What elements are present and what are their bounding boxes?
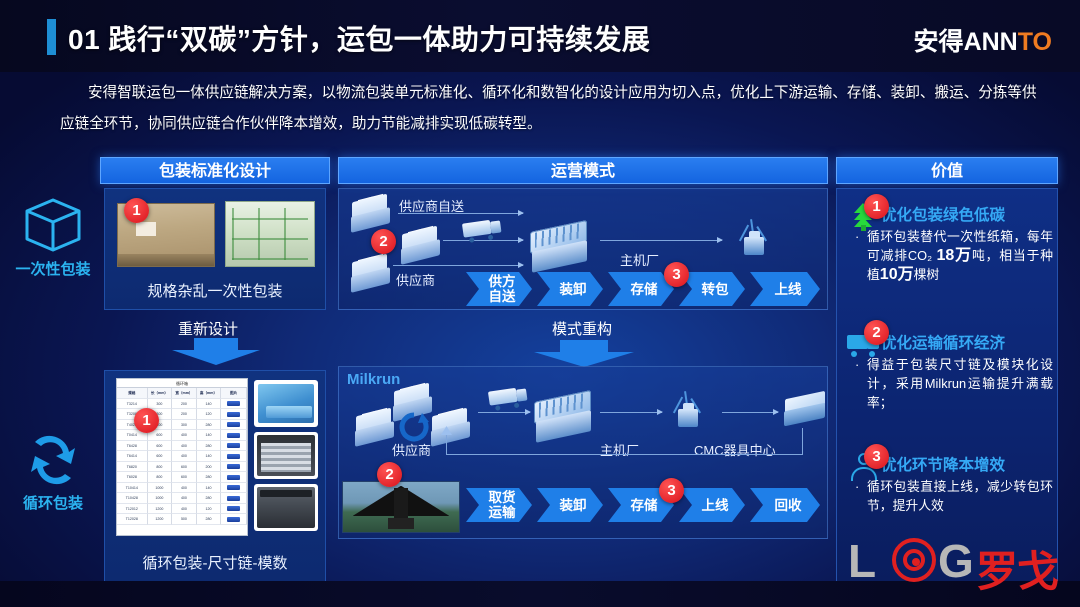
spec-table-cell: 120 — [197, 504, 222, 515]
spec-table-cell: T6428 — [117, 441, 148, 452]
value-title-1: 优化包装绿色低碳 — [881, 203, 1005, 225]
spec-table-box-thumb-icon — [221, 504, 247, 515]
value-title-3: 优化环节降本增效 — [881, 453, 1005, 475]
value-body-1-big1: 18万 — [937, 247, 973, 264]
flow-step-5[interactable]: 回收 — [750, 488, 820, 522]
watermark-logo: L G 罗戈网 — [848, 530, 1078, 592]
left-icon-label-reusable: 循环包装 — [6, 492, 100, 513]
value-body-3: ·循环包装直接上线，减少转包环节，提升人效 — [867, 477, 1053, 515]
spec-table-box-thumb-icon — [221, 483, 247, 494]
spec-table-box-thumb-icon — [221, 441, 247, 452]
factory-icon-bottom — [532, 392, 594, 440]
arrow-factory-to-robot-bottom — [600, 412, 662, 413]
flow-step-5[interactable]: 上线 — [750, 272, 820, 306]
spec-table-cell: 600 — [148, 451, 173, 462]
spec-table-box-thumb-icon — [221, 462, 247, 473]
spec-table-box-thumb-icon — [221, 399, 247, 410]
value-body-3-pre: 循环包装直接上线，减少转包环节，提升人效 — [867, 479, 1053, 513]
badge-left-top-1: 1 — [124, 198, 149, 223]
watermark-l: L — [848, 534, 875, 588]
spec-table-cell: 140 — [197, 451, 222, 462]
column-header-operating-model: 运营模式 — [338, 157, 828, 184]
spec-table-cell: 500 — [172, 514, 197, 525]
return-loop-horizontal — [446, 454, 803, 455]
photo-port-crane — [342, 481, 460, 533]
spec-table-cell: 400 — [172, 430, 197, 441]
left-icon-disposable-packaging: 一次性包装 — [6, 196, 100, 279]
spec-table-cell: 400 — [172, 493, 197, 504]
slide-canvas: 01 践行“双碳”方针，运包一体助力可持续发展 安得ANNTO 安得智联运包一体… — [0, 0, 1080, 607]
spec-table-cell: 280 — [197, 441, 222, 452]
badge-right-3: 3 — [864, 444, 889, 469]
photo-wrapped-pallet — [225, 201, 315, 267]
page-title: 01 践行“双碳”方针，运包一体助力可持续发展 — [68, 18, 650, 58]
pallet-stack-icon-3 — [348, 256, 392, 290]
badge-mid-top-3: 3 — [664, 262, 689, 287]
milkrun-loop-icon — [398, 412, 430, 442]
spec-table-cell: 1200 — [148, 514, 173, 525]
panel-caption-reusable: 循环包装-尺寸链-模数 — [105, 552, 325, 573]
watermark-rings-icon — [892, 538, 936, 582]
slide-header: 01 践行“双碳”方针，运包一体助力可持续发展 安得ANNTO — [0, 0, 1080, 72]
spec-table-header-cell: 宽（mm） — [172, 388, 197, 399]
value-body-2-pre: 得益于包装尺寸链及模块化设计，采用Milkrun运输提升满载率； — [867, 357, 1053, 410]
spec-table-cell: 1000 — [148, 493, 173, 504]
spec-table-box-thumb-icon — [221, 451, 247, 462]
brand-cn: 安得 — [914, 28, 964, 56]
spec-table-header-cell: 高（mm） — [197, 388, 222, 399]
spec-table-header-cell: 规格 — [117, 388, 148, 399]
arrow-supplier-self — [398, 213, 523, 214]
column-header-packaging-design: 包装标准化设计 — [100, 157, 330, 184]
return-loop-vertical-right — [802, 428, 803, 454]
label-supplier-bottom: 供应商 — [392, 440, 431, 459]
flow-step-2[interactable]: 装卸 — [537, 488, 603, 522]
truck-icon-bottom — [488, 386, 528, 410]
spec-table-cell: 400 — [172, 483, 197, 494]
flow-step-2[interactable]: 装卸 — [537, 272, 603, 306]
left-icon-label-disposable: 一次性包装 — [6, 258, 100, 279]
return-loop-arrowhead-icon — [441, 426, 453, 436]
spec-table-cell: 800 — [148, 462, 173, 473]
flow-step-4[interactable]: 上线 — [679, 488, 745, 522]
spec-table-header-cell: 图片 — [221, 388, 247, 399]
spec-table-box-thumb-icon — [221, 472, 247, 483]
badge-mid-bot-2: 2 — [377, 462, 402, 487]
intro-paragraph: 安得智联运包一体供应链解决方案，以物流包装单元标准化、循环化和数智化的设计应用为… — [60, 78, 1040, 140]
panel-caption-disposable: 规格杂乱一次性包装 — [105, 280, 325, 301]
product-thumb-folding-crate — [254, 380, 318, 427]
arrow-factory-to-robot — [600, 240, 722, 241]
label-oem-top: 主机厂 — [620, 250, 659, 269]
spec-table-cell: 280 — [197, 493, 222, 504]
spec-table-cell: 280 — [197, 472, 222, 483]
spec-table-cell: T12028 — [117, 514, 148, 525]
spec-table-cell: 400 — [172, 441, 197, 452]
spec-table-cell: 140 — [197, 430, 222, 441]
watermark-cn: 罗戈网 — [976, 538, 1078, 607]
value-title-2: 优化运输循环经济 — [881, 331, 1005, 353]
spec-table-cell: 280 — [197, 514, 222, 525]
value-body-1-big2: 10万 — [880, 266, 914, 283]
spec-table-cell: 600 — [148, 441, 173, 452]
spec-table-title: 循环箱 — [117, 379, 247, 388]
spec-table-grid: 规格长（mm）宽（mm）高（mm）图片T3214300200140T320830… — [117, 388, 247, 525]
brand-ann: ANN — [964, 28, 1018, 56]
factory-icon-top — [528, 222, 590, 270]
spec-table-cell: T10428 — [117, 493, 148, 504]
brand-logo: 安得ANNTO — [914, 22, 1052, 58]
arrow-milkrun-to-truck — [478, 412, 530, 413]
spec-table-cell: 120 — [197, 409, 222, 420]
badge-right-1: 1 — [864, 194, 889, 219]
spec-table-cell: 300 — [172, 420, 197, 431]
recycle-arrows-icon — [21, 432, 85, 488]
flow-step-4[interactable]: 转包 — [679, 272, 745, 306]
badge-right-2: 2 — [864, 320, 889, 345]
spec-table-header-cell: 长（mm） — [148, 388, 173, 399]
brand-to: TO — [1018, 28, 1052, 56]
spec-table-box-thumb-icon — [221, 514, 247, 525]
spec-table-cell: 1200 — [148, 504, 173, 515]
spec-table-cell: 400 — [172, 451, 197, 462]
spec-table-cell: T6414 — [117, 451, 148, 462]
spec-table-cell: 200 — [172, 399, 197, 410]
spec-table-cell: 280 — [197, 420, 222, 431]
left-icon-reusable-packaging: 循环包装 — [6, 432, 100, 513]
badge-left-bot-1: 1 — [134, 408, 159, 433]
watermark-g: G — [938, 534, 973, 588]
arrow-robot-to-cmc — [722, 412, 778, 413]
value-body-1-post: 棵树 — [914, 267, 940, 282]
spec-table-cell: T10414 — [117, 483, 148, 494]
robot-arm-icon-top — [728, 218, 780, 262]
spec-table-cell: 140 — [197, 399, 222, 410]
arrow-supplier-bottom — [393, 265, 523, 266]
bullet-dot-1: · — [855, 227, 859, 246]
spec-table-cell: 1000 — [148, 483, 173, 494]
spec-table-box-thumb-icon — [221, 420, 247, 431]
spec-table-cell: 200 — [197, 462, 222, 473]
title-accent-bar — [47, 19, 56, 55]
product-thumb-large-container — [254, 484, 318, 531]
badge-mid-bot-3: 3 — [659, 478, 684, 503]
bullet-dot-2: · — [855, 355, 859, 374]
truck-icon-top — [462, 218, 502, 242]
column-header-value: 价值 — [836, 157, 1058, 184]
spec-table-reusable-box: 循环箱 规格长（mm）宽（mm）高（mm）图片T3214300200140T32… — [116, 378, 248, 536]
flow-step-1[interactable]: 供方自送 — [466, 272, 532, 306]
spec-table-box-thumb-icon — [221, 409, 247, 420]
label-redesign: 重新设计 — [178, 318, 238, 339]
cmc-crate-icon — [782, 392, 828, 426]
label-model-restructure: 模式重构 — [552, 318, 612, 339]
down-arrow-restructure-icon — [530, 340, 638, 368]
spec-table-cell: 400 — [172, 504, 197, 515]
pallet-stack-icon-2 — [398, 228, 442, 262]
spec-table-box-thumb-icon — [221, 493, 247, 504]
value-body-1: ·循环包装替代一次性纸箱，每年可减排CO₂ 18万吨，相当于种植10万棵树 — [867, 227, 1053, 284]
pallet-stack-icon-5 — [352, 410, 396, 444]
spec-table-box-thumb-icon — [221, 430, 247, 441]
spec-table-cell: T12012 — [117, 504, 148, 515]
spec-table-cell: T6820 — [117, 462, 148, 473]
down-arrow-redesign-icon — [168, 338, 264, 366]
robot-arm-icon-bottom — [662, 390, 714, 434]
pallet-stack-icon-1 — [348, 196, 392, 230]
box-outline-icon — [21, 196, 85, 254]
process-flow-new: 取货运输装卸存储上线回收 — [466, 488, 825, 522]
spec-table-cell: 600 — [172, 472, 197, 483]
value-body-2: ·得益于包装尺寸链及模块化设计，采用Milkrun运输提升满载率； — [867, 355, 1053, 412]
spec-table-cell: 300 — [148, 399, 173, 410]
badge-mid-top-2: 2 — [371, 229, 396, 254]
label-supplier-top: 供应商 — [396, 270, 435, 289]
product-thumb-stacked-trays — [254, 432, 318, 479]
bullet-dot-3: · — [855, 477, 859, 496]
spec-table-cell: 800 — [148, 472, 173, 483]
spec-table-cell: T6028 — [117, 472, 148, 483]
spec-table-cell: 140 — [197, 483, 222, 494]
label-oem-bottom: 主机厂 — [600, 440, 639, 459]
label-cmc-center: CMC器具中心 — [694, 440, 776, 459]
process-flow-current: 供方自送装卸存储转包上线 — [466, 272, 825, 306]
spec-table-cell: 600 — [172, 462, 197, 473]
panel-value: 优化包装绿色低碳 ·循环包装替代一次性纸箱，每年可减排CO₂ 18万吨，相当于种… — [836, 188, 1058, 582]
spec-table-cell: 200 — [172, 409, 197, 420]
flow-step-1[interactable]: 取货运输 — [466, 488, 532, 522]
